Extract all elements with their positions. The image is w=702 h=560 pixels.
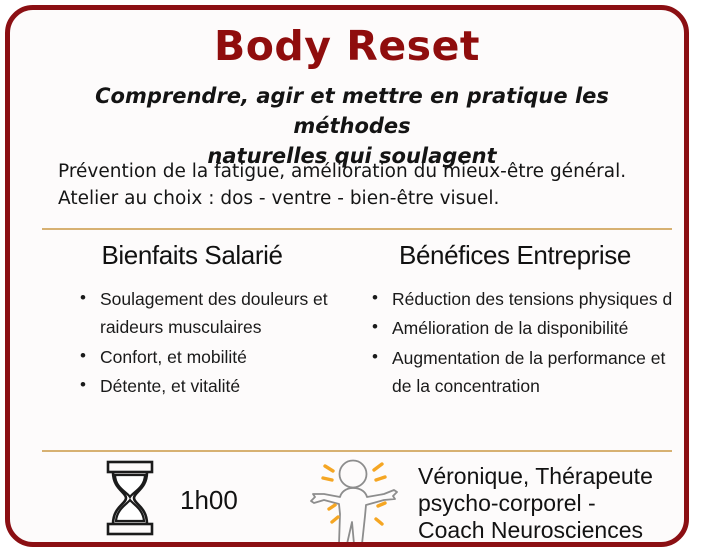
intro-paragraph: Prévention de la fatigue, amélioration d… <box>58 158 658 213</box>
list-item: Augmentation de la performance et de la … <box>368 344 680 401</box>
person-stretching-icon <box>302 456 404 547</box>
list-item: Réduction des tensions physiques d <box>368 285 680 313</box>
page-title: Body Reset <box>10 25 684 68</box>
list-item: Soulagement des douleurs et raideurs mus… <box>76 285 344 342</box>
intro-line-2: Atelier au choix : dos - ventre - bien-ê… <box>58 185 658 212</box>
column-employee-heading: Bienfaits Salarié <box>32 240 352 271</box>
divider-top <box>42 228 672 230</box>
coach-line-1: Véronique, Thérapeute <box>418 463 689 490</box>
coach-line-3: Coach Neurosciences <box>418 517 689 544</box>
benefits-columns: Bienfaits Salarié Soulagement des douleu… <box>10 240 684 445</box>
column-employee-list: Soulagement des douleurs et raideurs mus… <box>76 285 344 400</box>
hourglass-icon <box>102 459 158 542</box>
divider-bottom <box>42 450 672 452</box>
list-item: Détente, et vitalité <box>76 372 344 400</box>
column-employee: Bienfaits Salarié Soulagement des douleu… <box>32 240 352 401</box>
duration-block: 1h00 <box>102 459 238 542</box>
coach-label: Véronique, Thérapeute psycho-corporel - … <box>418 463 689 544</box>
duration-label: 1h00 <box>180 485 238 516</box>
intro-line-1: Prévention de la fatigue, amélioration d… <box>58 158 658 185</box>
column-company-heading: Bénéfices Entreprise <box>350 240 680 271</box>
footer: 1h00 <box>10 456 684 547</box>
coach-line-2: psycho-corporel - <box>418 490 689 517</box>
list-item: Confort, et mobilité <box>76 343 344 371</box>
flyer-card: Body Reset Comprendre, agir et mettre en… <box>5 5 689 547</box>
list-item: Amélioration de la disponibilité <box>368 314 680 342</box>
subtitle-line-1: Comprendre, agir et mettre en pratique l… <box>65 82 639 142</box>
person-block: Véronique, Thérapeute psycho-corporel - … <box>302 456 689 547</box>
column-company: Bénéfices Entreprise Réduction des tensi… <box>350 240 680 401</box>
column-company-list: Réduction des tensions physiques d Améli… <box>368 285 680 400</box>
